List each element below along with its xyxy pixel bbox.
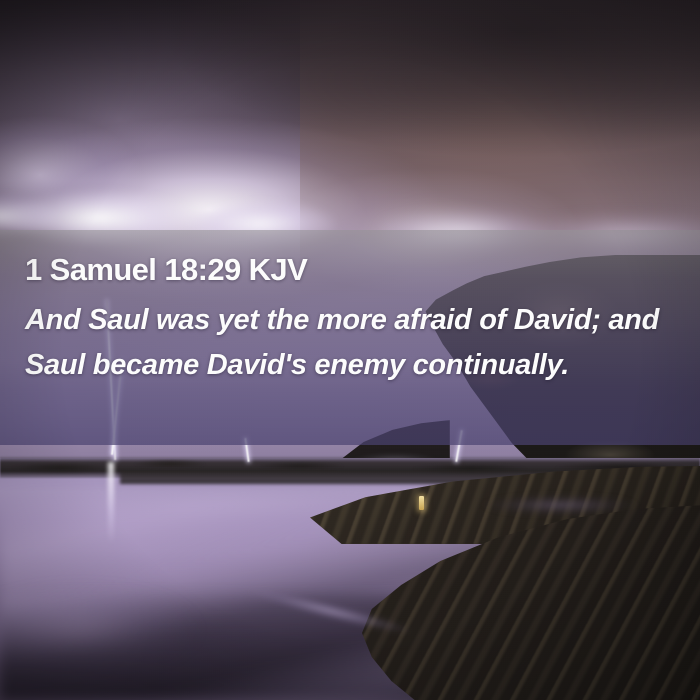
vignette [0,0,700,700]
verse-image: 1 Samuel 18:29 KJV And Saul was yet the … [0,0,700,700]
